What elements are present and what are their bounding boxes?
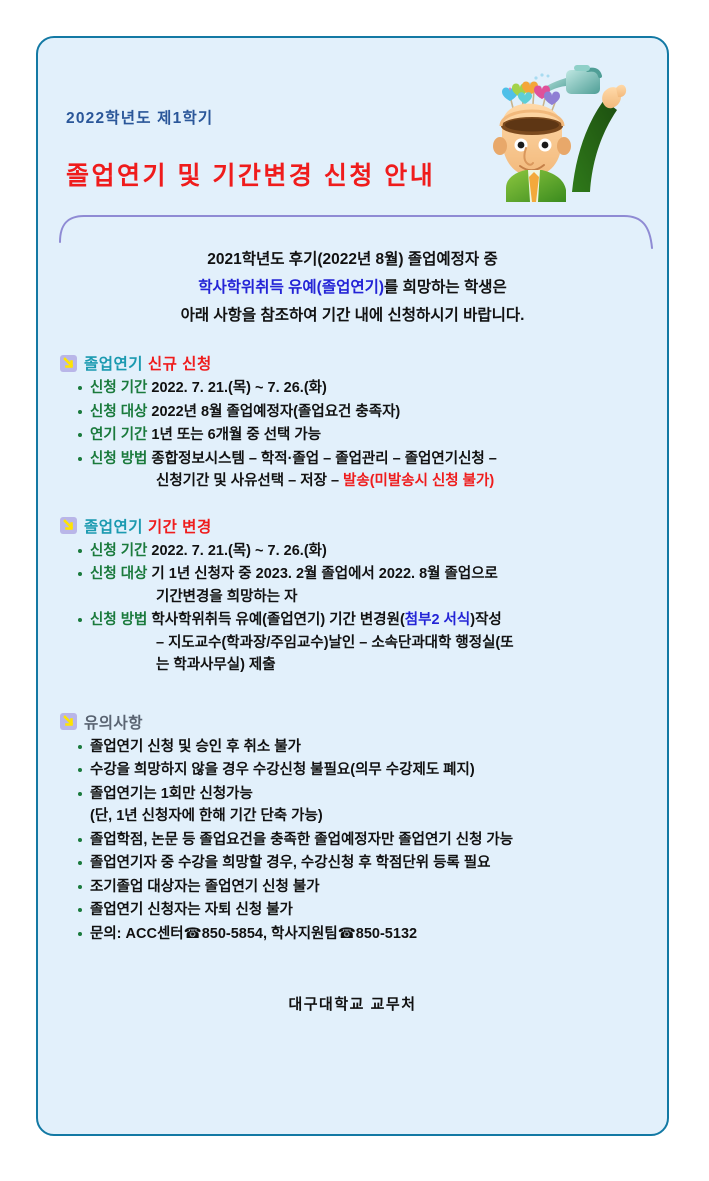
note-text: 졸업연기 신청자는 자퇴 신청 불가	[90, 902, 293, 918]
list-item: 수강을 희망하지 않을 경우 수강신청 불필요(의무 수강제도 폐지)	[76, 759, 667, 782]
poster-header: 2022학년도 제1학기 졸업연기 및 기간변경 신청 안내	[38, 38, 667, 216]
section-items: 신청 기간 2022. 7. 21.(목) ~ 7. 26.(화) 신청 대상 …	[60, 540, 667, 677]
intro-line-2: 학사학위취득 유예(졸업연기)를 희망하는 학생은	[38, 274, 667, 302]
section-title-main: 졸업연기	[84, 519, 143, 536]
note-text: 졸업연기는 1회만 신청가능	[90, 786, 253, 802]
arrow-down-right-icon	[60, 517, 77, 534]
item-value-pre: 학사학위취득 유예(졸업연기) 기간 변경원(	[151, 612, 404, 628]
section-title-accent: 신규 신청	[148, 356, 212, 373]
list-item: 문의: ACC센터☎850-5854, 학사지원팀☎850-5132	[76, 923, 667, 946]
arrow-down-right-icon	[60, 355, 77, 372]
intro-line-2-rest: 를 희망하는 학생은	[384, 279, 507, 296]
section-period-change: 졸업연기 기간 변경 신청 기간 2022. 7. 21.(목) ~ 7. 26…	[38, 515, 667, 677]
section-notes: 유의사항 졸업연기 신청 및 승인 후 취소 불가 수강을 희망하지 않을 경우…	[38, 711, 667, 946]
item-attachment-ref: 첨부2 서식	[405, 612, 470, 628]
item-value: 2022년 8월 졸업예정자(졸업요건 충족자)	[151, 404, 400, 420]
intro-highlight: 학사학위취득 유예(졸업연기)	[198, 279, 384, 296]
item-label: 신청 대상	[90, 566, 147, 582]
notes-items: 졸업연기 신청 및 승인 후 취소 불가 수강을 희망하지 않을 경우 수강신청…	[60, 736, 667, 946]
section-items: 신청 기간 2022. 7. 21.(목) ~ 7. 26.(화) 신청 대상 …	[60, 377, 667, 493]
note-text: 졸업연기 신청 및 승인 후 취소 불가	[90, 739, 301, 755]
list-item: 졸업학점, 논문 등 졸업요건을 충족한 졸업예정자만 졸업연기 신청 가능	[76, 829, 667, 852]
note-continuation: (단, 1년 신청자에 한해 기간 단축 가능)	[90, 805, 667, 828]
contact-text: 문의: ACC센터☎850-5854, 학사지원팀☎850-5132	[90, 926, 417, 942]
list-item: 연기 기간 1년 또는 6개월 중 선택 가능	[76, 424, 667, 447]
list-item: 신청 방법 종합정보시스템 – 학적·졸업 – 졸업관리 – 졸업연기신청 – …	[76, 448, 667, 493]
arrow-down-right-icon	[60, 713, 77, 730]
item-continuation: – 지도교수(학과장/주임교수)날인 – 소속단과대학 행정실(또	[90, 632, 667, 655]
section-title: 졸업연기 기간 변경	[84, 515, 212, 537]
note-text: 졸업연기자 중 수강을 희망할 경우, 수강신청 후 학점단위 등록 필요	[90, 855, 490, 871]
list-item: 졸업연기자 중 수강을 희망할 경우, 수강신청 후 학점단위 등록 필요	[76, 852, 667, 875]
list-item: 조기졸업 대상자는 졸업연기 신청 불가	[76, 876, 667, 899]
man-watering-heart-flowers-icon	[476, 42, 661, 202]
item-value-post: )작성	[470, 612, 502, 628]
item-label: 연기 기간	[90, 427, 147, 443]
list-item: 신청 방법 학사학위취득 유예(졸업연기) 기간 변경원(첨부2 서식)작성 –…	[76, 609, 667, 677]
item-value: 2022. 7. 21.(목) ~ 7. 26.(화)	[151, 543, 326, 559]
list-item: 졸업연기 신청자는 자퇴 신청 불가	[76, 899, 667, 922]
semester-label: 2022학년도 제1학기	[66, 106, 213, 128]
intro-paragraph: 2021학년도 후기(2022년 8월) 졸업예정자 중 학사학위취득 유예(졸…	[38, 246, 667, 330]
list-item: 신청 기간 2022. 7. 21.(목) ~ 7. 26.(화)	[76, 540, 667, 563]
list-item: 신청 대상 2022년 8월 졸업예정자(졸업요건 충족자)	[76, 401, 667, 424]
list-item: 졸업연기는 1회만 신청가능 (단, 1년 신청자에 한해 기간 단축 가능)	[76, 783, 667, 828]
note-text: 졸업학점, 논문 등 졸업요건을 충족한 졸업예정자만 졸업연기 신청 가능	[90, 832, 513, 848]
section-title: 졸업연기 신규 신청	[84, 352, 212, 374]
section-title-main: 졸업연기	[84, 356, 143, 373]
item-continuation-2: 는 학과사무실) 제출	[90, 654, 667, 677]
item-label: 신청 기간	[90, 380, 147, 396]
item-label: 신청 방법	[90, 451, 147, 467]
list-item: 신청 대상 기 1년 신청자 중 2023. 2월 졸업에서 2022. 8월 …	[76, 563, 667, 608]
item-value: 종합정보시스템 – 학적·졸업 – 졸업관리 – 졸업연기신청 –	[151, 451, 496, 467]
section-heading: 졸업연기 기간 변경	[60, 515, 667, 537]
item-label: 신청 기간	[90, 543, 147, 559]
item-label: 신청 대상	[90, 404, 147, 420]
note-text: 수강을 희망하지 않을 경우 수강신청 불필요(의무 수강제도 폐지)	[90, 762, 475, 778]
decorative-divider	[58, 198, 658, 250]
section-title-accent: 기간 변경	[148, 519, 212, 536]
list-item: 졸업연기 신청 및 승인 후 취소 불가	[76, 736, 667, 759]
list-item: 신청 기간 2022. 7. 21.(목) ~ 7. 26.(화)	[76, 377, 667, 400]
item-value: 기 1년 신청자 중 2023. 2월 졸업에서 2022. 8월 졸업으로	[151, 566, 497, 582]
section-new-application: 졸업연기 신규 신청 신청 기간 2022. 7. 21.(목) ~ 7. 26…	[38, 352, 667, 493]
intro-line-3: 아래 사항을 참조하여 기간 내에 신청하시기 바랍니다.	[38, 302, 667, 330]
item-continuation-text: 신청기간 및 사유선택 – 저장 –	[156, 473, 343, 489]
section-title: 유의사항	[84, 711, 143, 733]
item-value: 2022. 7. 21.(목) ~ 7. 26.(화)	[151, 380, 326, 396]
item-value: 1년 또는 6개월 중 선택 가능	[151, 427, 321, 443]
section-heading: 졸업연기 신규 신청	[60, 352, 667, 374]
item-continuation-accent: 발송(미발송시 신청 불가)	[343, 473, 494, 489]
page-title: 졸업연기 및 기간변경 신청 안내	[66, 156, 435, 192]
item-label: 신청 방법	[90, 612, 147, 628]
issuer-footer: 대구대학교 교무처	[38, 993, 667, 1014]
item-continuation: 신청기간 및 사유선택 – 저장 – 발송(미발송시 신청 불가)	[90, 470, 667, 493]
notice-poster: 2022학년도 제1학기 졸업연기 및 기간변경 신청 안내	[36, 36, 669, 1136]
intro-line-1: 2021학년도 후기(2022년 8월) 졸업예정자 중	[38, 246, 667, 274]
item-continuation: 기간변경을 희망하는 자	[90, 586, 667, 609]
note-text: 조기졸업 대상자는 졸업연기 신청 불가	[90, 879, 320, 895]
section-heading: 유의사항	[60, 711, 667, 733]
